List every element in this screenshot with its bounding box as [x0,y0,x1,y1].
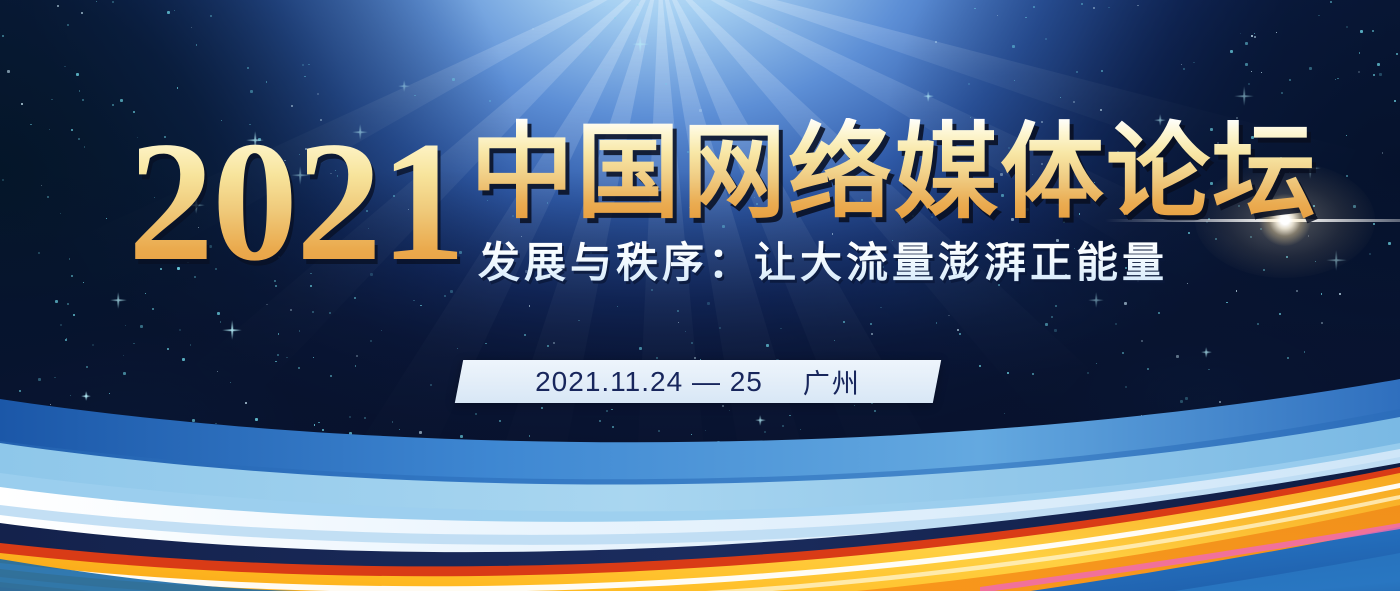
sparkle-star-icon [923,91,934,102]
sparkle-star-icon [246,131,264,149]
conference-banner: 2021 中国网络媒体论坛 发展与秩序：让大流量澎湃正能量 2021.11.24… [0,0,1400,591]
sparkle-star-icon [291,166,310,185]
sparkle-star-icon [187,196,205,214]
ribbon-waves [0,291,1400,591]
sparkle-star-icon [632,36,649,53]
sparkle-star-icon [398,80,410,92]
sparkle-star-icon [1154,114,1166,126]
sparkle-star-icon [1234,86,1254,106]
sparkle-star-icon [352,124,368,140]
